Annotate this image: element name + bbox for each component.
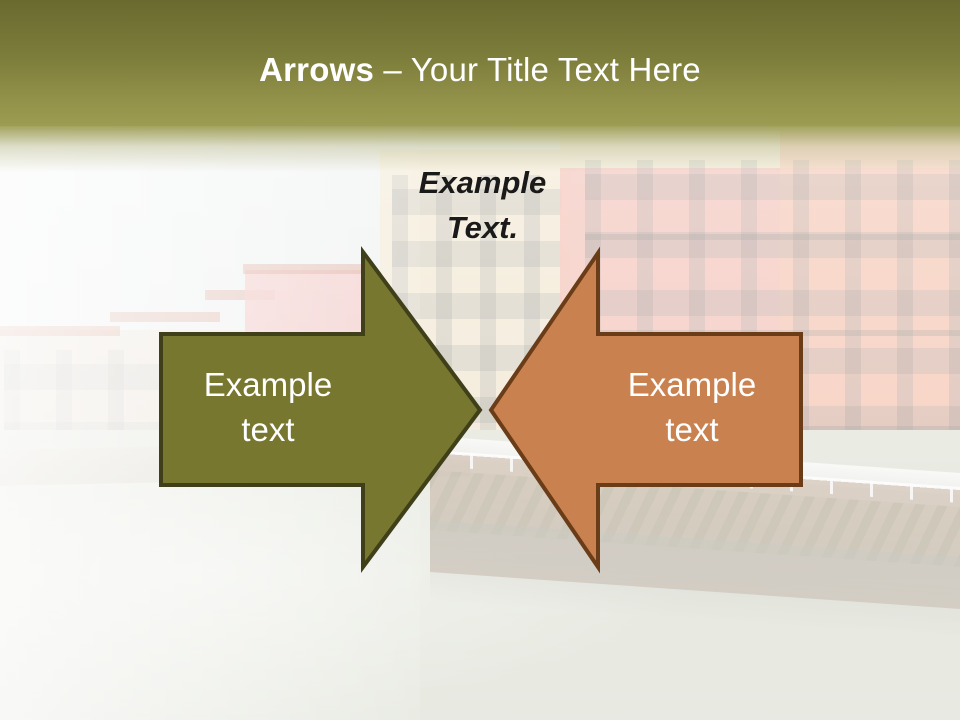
arrows-svg xyxy=(0,0,960,720)
slide-canvas: Arrows – Your Title Text Here Example Te… xyxy=(0,0,960,720)
right-arrow-label: Example text xyxy=(592,362,792,452)
arrow-diagram: Example text Example text xyxy=(0,0,960,720)
left-arrow-label: Example text xyxy=(168,362,368,452)
